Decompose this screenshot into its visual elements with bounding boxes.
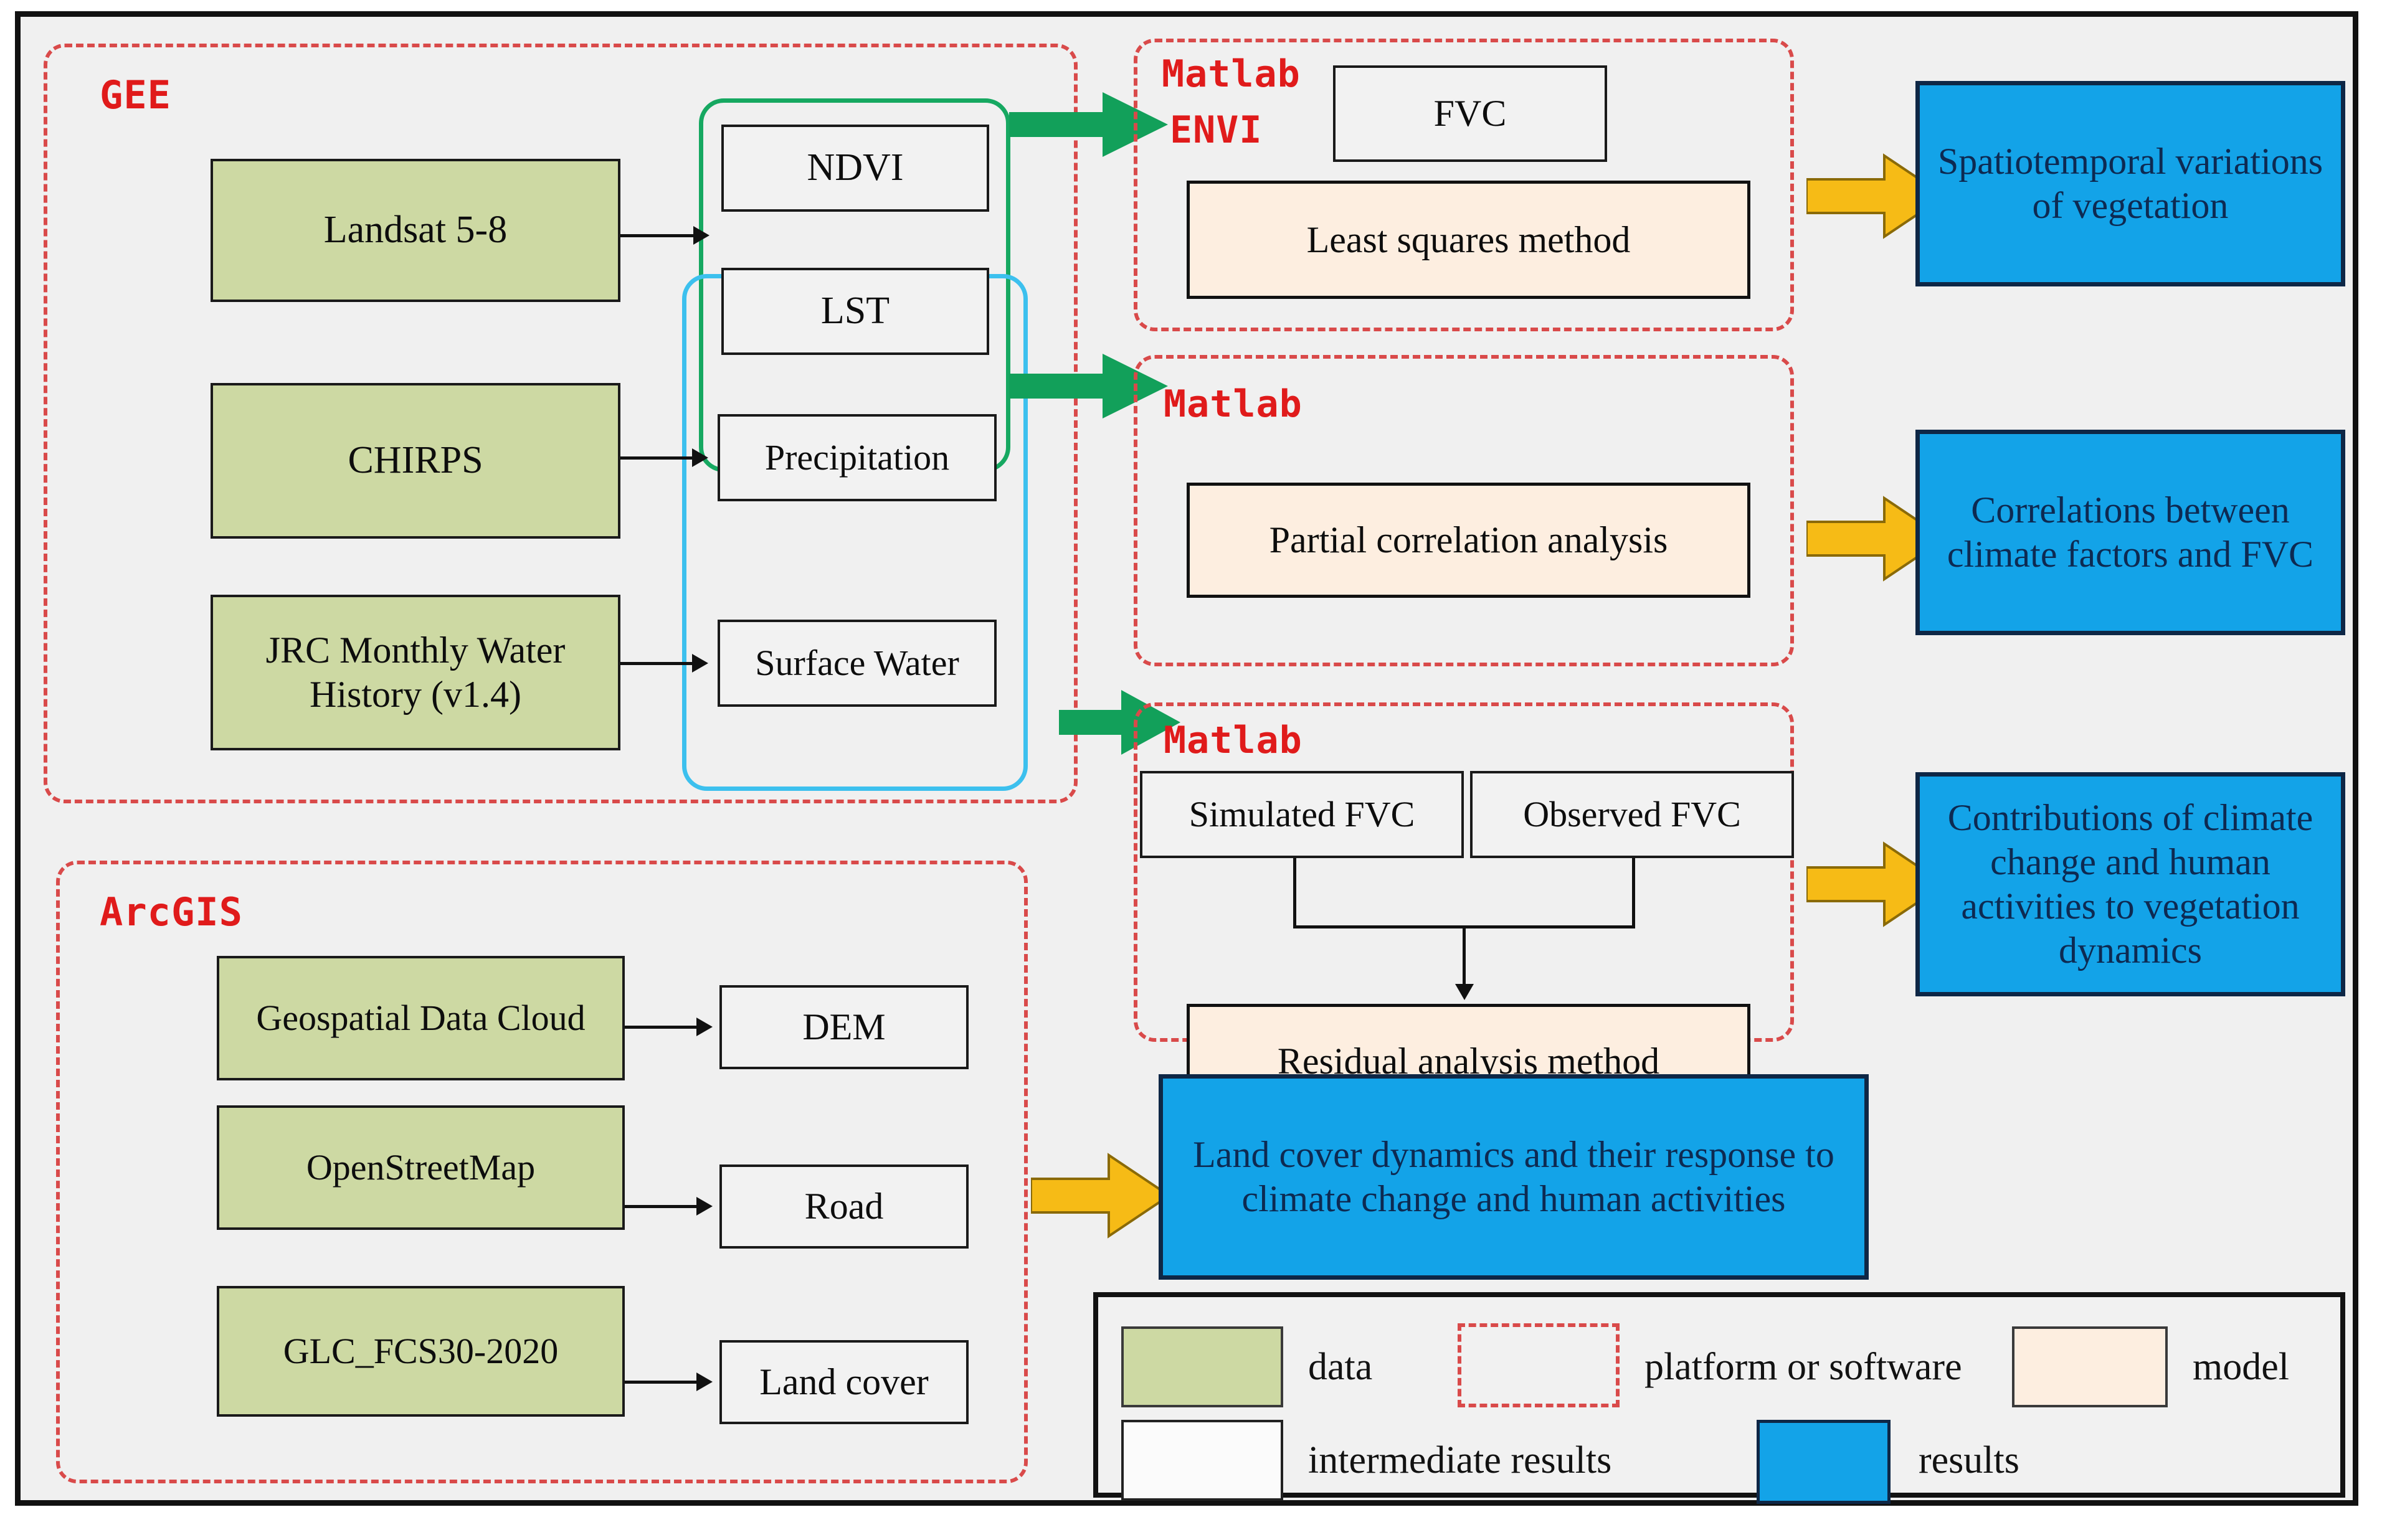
arrowhead-residual (1455, 984, 1474, 1000)
intermediate-box-precipitation: Precipitation (718, 414, 997, 501)
intermediate-box-ndvi: NDVI (721, 125, 989, 212)
platform-matlab-envi-label-envi: ENVI (1170, 111, 1263, 150)
legend-label-model: model (2193, 1342, 2289, 1392)
arrowhead-road (696, 1197, 713, 1216)
intermediate-box-observed-fvc-label: Observed FVC (1523, 793, 1741, 836)
data-box-jrc-label: JRC Monthly Water History (v1.4) (218, 628, 613, 717)
connector-jrc-to-surfacewater (620, 662, 698, 665)
intermediate-box-precipitation-label: Precipitation (765, 437, 949, 479)
arrowhead-jrc (692, 654, 708, 673)
platform-matlab-correlation-label: Matlab (1164, 385, 1303, 424)
connector-merge-to-residual (1463, 925, 1466, 988)
intermediate-box-land-cover-label: Land cover (759, 1360, 929, 1404)
data-box-glc-fcs30: GLC_FCS30-2020 (217, 1286, 625, 1417)
platform-arcgis-label: ArcGIS (100, 892, 243, 932)
data-box-chirps-label: CHIRPS (348, 438, 483, 483)
intermediate-box-dem: DEM (719, 985, 969, 1069)
intermediate-box-observed-fvc: Observed FVC (1470, 771, 1794, 858)
result-box-spatiotemporal-variations: Spatiotemporal variations of vegetation (1915, 81, 2345, 286)
intermediate-box-surface-water: Surface Water (718, 620, 997, 707)
intermediate-box-land-cover: Land cover (719, 1340, 969, 1424)
data-box-geospatial-data-cloud-label: Geospatial Data Cloud (256, 997, 585, 1039)
platform-matlab-residual-label: Matlab (1164, 721, 1303, 760)
platform-matlab-envi-label-matlab: Matlab (1162, 55, 1301, 94)
intermediate-box-ndvi-label: NDVI (807, 145, 904, 191)
legend-label-platform: platform or software (1644, 1342, 1962, 1392)
connector-osm-to-road (625, 1205, 701, 1208)
intermediate-box-lst: LST (721, 268, 989, 355)
result-box-spatiotemporal-variations-label: Spatiotemporal variations of vegetation (1925, 139, 2336, 228)
connector-landsat-to-ndvi (620, 234, 701, 237)
result-box-land-cover-dynamics: Land cover dynamics and their response t… (1159, 1074, 1869, 1280)
legend-swatch-model (2012, 1326, 2168, 1407)
result-box-contributions-label: Contributions of climate change and huma… (1925, 796, 2336, 972)
result-box-land-cover-dynamics-label: Land cover dynamics and their response t… (1168, 1133, 1859, 1221)
legend-swatch-results (1757, 1420, 1891, 1504)
intermediate-box-road: Road (719, 1164, 969, 1249)
connector-simulated-down (1293, 858, 1296, 928)
intermediate-box-dem-label: DEM (802, 1005, 885, 1049)
connector-glc-to-landcover (625, 1381, 701, 1384)
model-box-least-squares: Least squares method (1187, 181, 1750, 299)
legend-label-data: data (1308, 1342, 1372, 1392)
intermediate-box-simulated-fvc-label: Simulated FVC (1189, 793, 1415, 836)
legend-swatch-platform (1458, 1323, 1620, 1407)
data-box-chirps: CHIRPS (211, 383, 620, 539)
intermediate-box-fvc: FVC (1333, 65, 1607, 162)
data-box-openstreetmap: OpenStreetMap (217, 1105, 625, 1230)
data-box-landsat-label: Landsat 5-8 (324, 207, 507, 253)
legend-swatch-data (1121, 1326, 1283, 1407)
arrowhead-landsat (693, 226, 709, 245)
arrowhead-landcover (696, 1372, 713, 1391)
legend-label-intermediate: intermediate results (1308, 1435, 1611, 1485)
intermediate-box-lst-label: LST (821, 288, 890, 334)
data-box-geospatial-data-cloud: Geospatial Data Cloud (217, 956, 625, 1080)
legend-swatch-intermediate (1121, 1420, 1283, 1501)
intermediate-box-road-label: Road (805, 1184, 884, 1229)
model-box-least-squares-label: Least squares method (1307, 218, 1631, 262)
connector-observed-down (1632, 858, 1635, 928)
data-box-landsat: Landsat 5-8 (211, 159, 620, 302)
platform-gee-label: GEE (100, 75, 171, 115)
intermediate-box-simulated-fvc: Simulated FVC (1140, 771, 1464, 858)
legend-label-results: results (1919, 1435, 2019, 1485)
data-box-openstreetmap-label: OpenStreetMap (306, 1146, 535, 1189)
yellow-arrow-to-result-4 (1031, 1149, 1174, 1242)
intermediate-box-surface-water-label: Surface Water (755, 642, 959, 684)
connector-gdc-to-dem (625, 1026, 701, 1029)
model-box-partial-correlation: Partial correlation analysis (1187, 483, 1750, 598)
arrowhead-dem (696, 1018, 713, 1036)
intermediate-box-fvc-label: FVC (1434, 92, 1507, 136)
figure-canvas: GEE Landsat 5-8 CHIRPS JRC Monthly Water… (0, 0, 2382, 1540)
model-box-partial-correlation-label: Partial correlation analysis (1269, 518, 1668, 562)
data-box-jrc: JRC Monthly Water History (v1.4) (211, 595, 620, 750)
arrowhead-chirps (692, 448, 708, 467)
connector-chirps-to-precipitation (620, 456, 698, 460)
result-box-contributions: Contributions of climate change and huma… (1915, 772, 2345, 996)
data-box-glc-fcs30-label: GLC_FCS30-2020 (283, 1330, 559, 1372)
result-box-correlations-label: Correlations between climate factors and… (1925, 488, 2336, 577)
result-box-correlations: Correlations between climate factors and… (1915, 430, 2345, 635)
